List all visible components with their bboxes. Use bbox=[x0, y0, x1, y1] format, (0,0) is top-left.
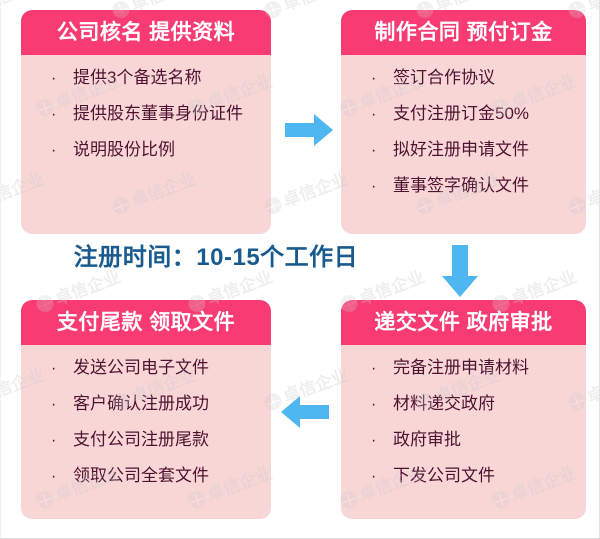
list-item-label: 签订合作协议 bbox=[393, 69, 495, 86]
bullet-dot-icon: · bbox=[371, 433, 393, 449]
list-item: · 客户确认注册成功 bbox=[21, 395, 271, 431]
list-item-label: 提供股东董事身份证件 bbox=[73, 105, 243, 122]
list-item: · 提供3个备选名称 bbox=[21, 69, 271, 105]
list-item: · 领取公司全套文件 bbox=[21, 467, 271, 503]
step-1-title: 公司核名 提供资料 bbox=[57, 22, 235, 43]
flowchart-canvas: 公司核名 提供资料 · 提供3个备选名称 · 提供股东董事身份证件 · 说明股份… bbox=[0, 0, 600, 539]
process-step-card-2: 制作合同 预付订金 · 签订合作协议 · 支付注册订金50% · 拟好注册申请文… bbox=[341, 10, 586, 234]
process-step-card-4: 支付尾款 领取文件 · 发送公司电子文件 · 客户确认注册成功 · 支付公司注册… bbox=[21, 300, 271, 519]
step-3-header: 递交文件 政府审批 bbox=[341, 300, 586, 345]
list-item-label: 支付公司注册尾款 bbox=[73, 431, 209, 448]
list-item-label: 完备注册申请材料 bbox=[393, 359, 529, 376]
list-item: · 支付注册订金50% bbox=[341, 105, 586, 141]
bullet-dot-icon: · bbox=[371, 361, 393, 377]
list-item: · 政府审批 bbox=[341, 431, 586, 467]
step-4-title: 支付尾款 领取文件 bbox=[57, 312, 235, 333]
bullet-dot-icon: · bbox=[371, 71, 393, 87]
list-item-label: 支付注册订金50% bbox=[393, 105, 529, 122]
step-3-title: 递交文件 政府审批 bbox=[374, 312, 552, 333]
bullet-dot-icon: · bbox=[371, 143, 393, 159]
bullet-dot-icon: · bbox=[51, 143, 73, 159]
step-4-body: · 发送公司电子文件 · 客户确认注册成功 · 支付公司注册尾款 · 领取公司全… bbox=[21, 345, 271, 513]
step-3-body: · 完备注册申请材料 · 材料递交政府 · 政府审批 · 下发公司文件 bbox=[341, 345, 586, 513]
step-2-body: · 签订合作协议 · 支付注册订金50% · 拟好注册申请文件 · 董事签字确认… bbox=[341, 55, 586, 223]
list-item-label: 董事签字确认文件 bbox=[393, 177, 529, 194]
list-item-label: 说明股份比例 bbox=[73, 141, 175, 158]
step-2-title: 制作合同 预付订金 bbox=[374, 22, 552, 43]
list-item: · 完备注册申请材料 bbox=[341, 359, 586, 395]
list-item-label: 客户确认注册成功 bbox=[73, 395, 209, 412]
list-item: · 拟好注册申请文件 bbox=[341, 141, 586, 177]
step-4-header: 支付尾款 领取文件 bbox=[21, 300, 271, 345]
list-item-label: 领取公司全套文件 bbox=[73, 467, 209, 484]
registration-duration-label: 注册时间：10-15个工作日 bbox=[1, 246, 431, 270]
watermark-mark: 卓信企业 bbox=[262, 170, 351, 216]
list-item-label: 拟好注册申请文件 bbox=[393, 141, 529, 158]
bullet-dot-icon: · bbox=[51, 469, 73, 485]
list-item-label: 提供3个备选名称 bbox=[73, 69, 201, 86]
list-item: · 董事签字确认文件 bbox=[341, 177, 586, 213]
watermark-text: 卓信企业 bbox=[585, 366, 599, 405]
bullet-dot-icon: · bbox=[371, 179, 393, 195]
process-step-card-3: 递交文件 政府审批 · 完备注册申请材料 · 材料递交政府 · 政府审批 · 下… bbox=[341, 300, 586, 519]
step-1-header: 公司核名 提供资料 bbox=[21, 10, 271, 55]
bullet-dot-icon: · bbox=[371, 397, 393, 413]
list-item: · 材料递交政府 bbox=[341, 395, 586, 431]
bullet-dot-icon: · bbox=[51, 107, 73, 123]
bullet-dot-icon: · bbox=[51, 71, 73, 87]
list-item: · 提供股东董事身份证件 bbox=[21, 105, 271, 141]
arrow-down-icon bbox=[441, 245, 479, 297]
process-step-card-1: 公司核名 提供资料 · 提供3个备选名称 · 提供股东董事身份证件 · 说明股份… bbox=[21, 10, 271, 234]
bullet-dot-icon: · bbox=[51, 433, 73, 449]
step-2-header: 制作合同 预付订金 bbox=[341, 10, 586, 55]
bullet-dot-icon: · bbox=[371, 469, 393, 485]
arrow-right-icon bbox=[285, 113, 333, 147]
watermark-text: 卓信企业 bbox=[585, 170, 599, 209]
arrow-left-icon bbox=[281, 395, 329, 429]
watermark-text: 卓信企业 bbox=[281, 0, 351, 14]
bullet-dot-icon: · bbox=[51, 361, 73, 377]
bullet-dot-icon: · bbox=[371, 107, 393, 123]
list-item: · 签订合作协议 bbox=[341, 69, 586, 105]
list-item: · 下发公司文件 bbox=[341, 467, 586, 503]
list-item-label: 发送公司电子文件 bbox=[73, 359, 209, 376]
list-item: · 发送公司电子文件 bbox=[21, 359, 271, 395]
step-1-body: · 提供3个备选名称 · 提供股东董事身份证件 · 说明股份比例 bbox=[21, 55, 271, 187]
watermark-mark: 卓信企业 bbox=[262, 0, 351, 20]
list-item-label: 下发公司文件 bbox=[393, 467, 495, 484]
list-item: · 支付公司注册尾款 bbox=[21, 431, 271, 467]
list-item-label: 材料递交政府 bbox=[393, 395, 495, 412]
list-item-label: 政府审批 bbox=[393, 431, 461, 448]
list-item: · 说明股份比例 bbox=[21, 141, 271, 177]
watermark-text: 卓信企业 bbox=[585, 0, 599, 14]
bullet-dot-icon: · bbox=[51, 397, 73, 413]
